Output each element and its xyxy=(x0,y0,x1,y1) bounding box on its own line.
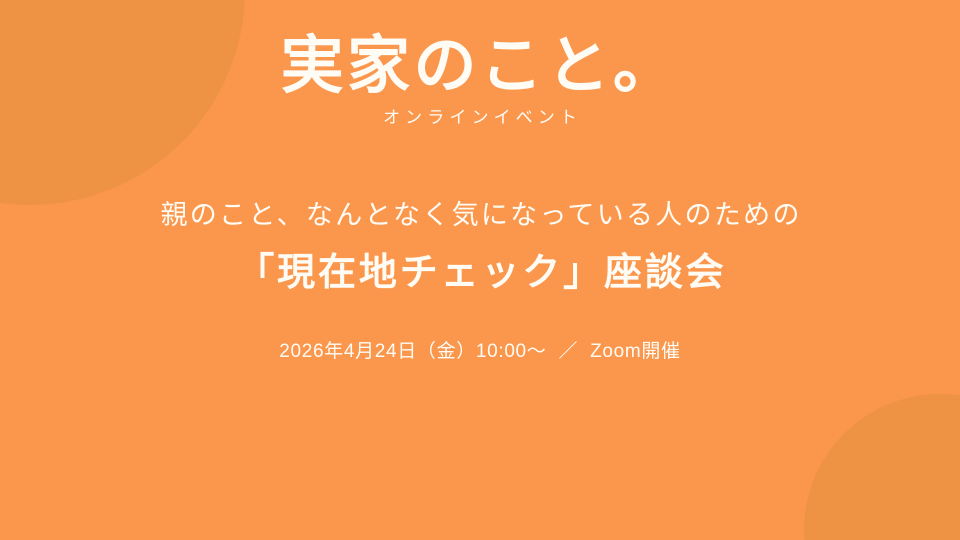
poster-content: 実家のこと。 オンラインイベント 親のこと、なんとなく気になっている人のための … xyxy=(0,0,960,540)
logo-subtitle: オンラインイベント xyxy=(281,110,680,127)
logo-wordmark: 実家のこと。 xyxy=(281,32,680,100)
event-platform: Zoom開催 xyxy=(590,342,681,361)
event-meta-line: 2026年4月24日（金）10:00〜 ／ Zoom開催 xyxy=(279,342,680,361)
meta-separator-icon: ／ xyxy=(558,342,578,361)
headline-lead-text: 親のこと、なんとなく気になっている人のための xyxy=(158,199,802,233)
event-poster: 実家のこと。 オンラインイベント 親のこと、なんとなく気になっている人のための … xyxy=(0,0,960,540)
headline-block: 親のこと、なんとなく気になっている人のための 「現在地チェック」座談会 xyxy=(158,199,802,298)
brand-logo: 実家のこと。 オンラインイベント xyxy=(281,32,680,127)
headline-main-title: 「現在地チェック」座談会 xyxy=(158,249,802,298)
event-date-time: 2026年4月24日（金）10:00〜 xyxy=(279,342,546,361)
